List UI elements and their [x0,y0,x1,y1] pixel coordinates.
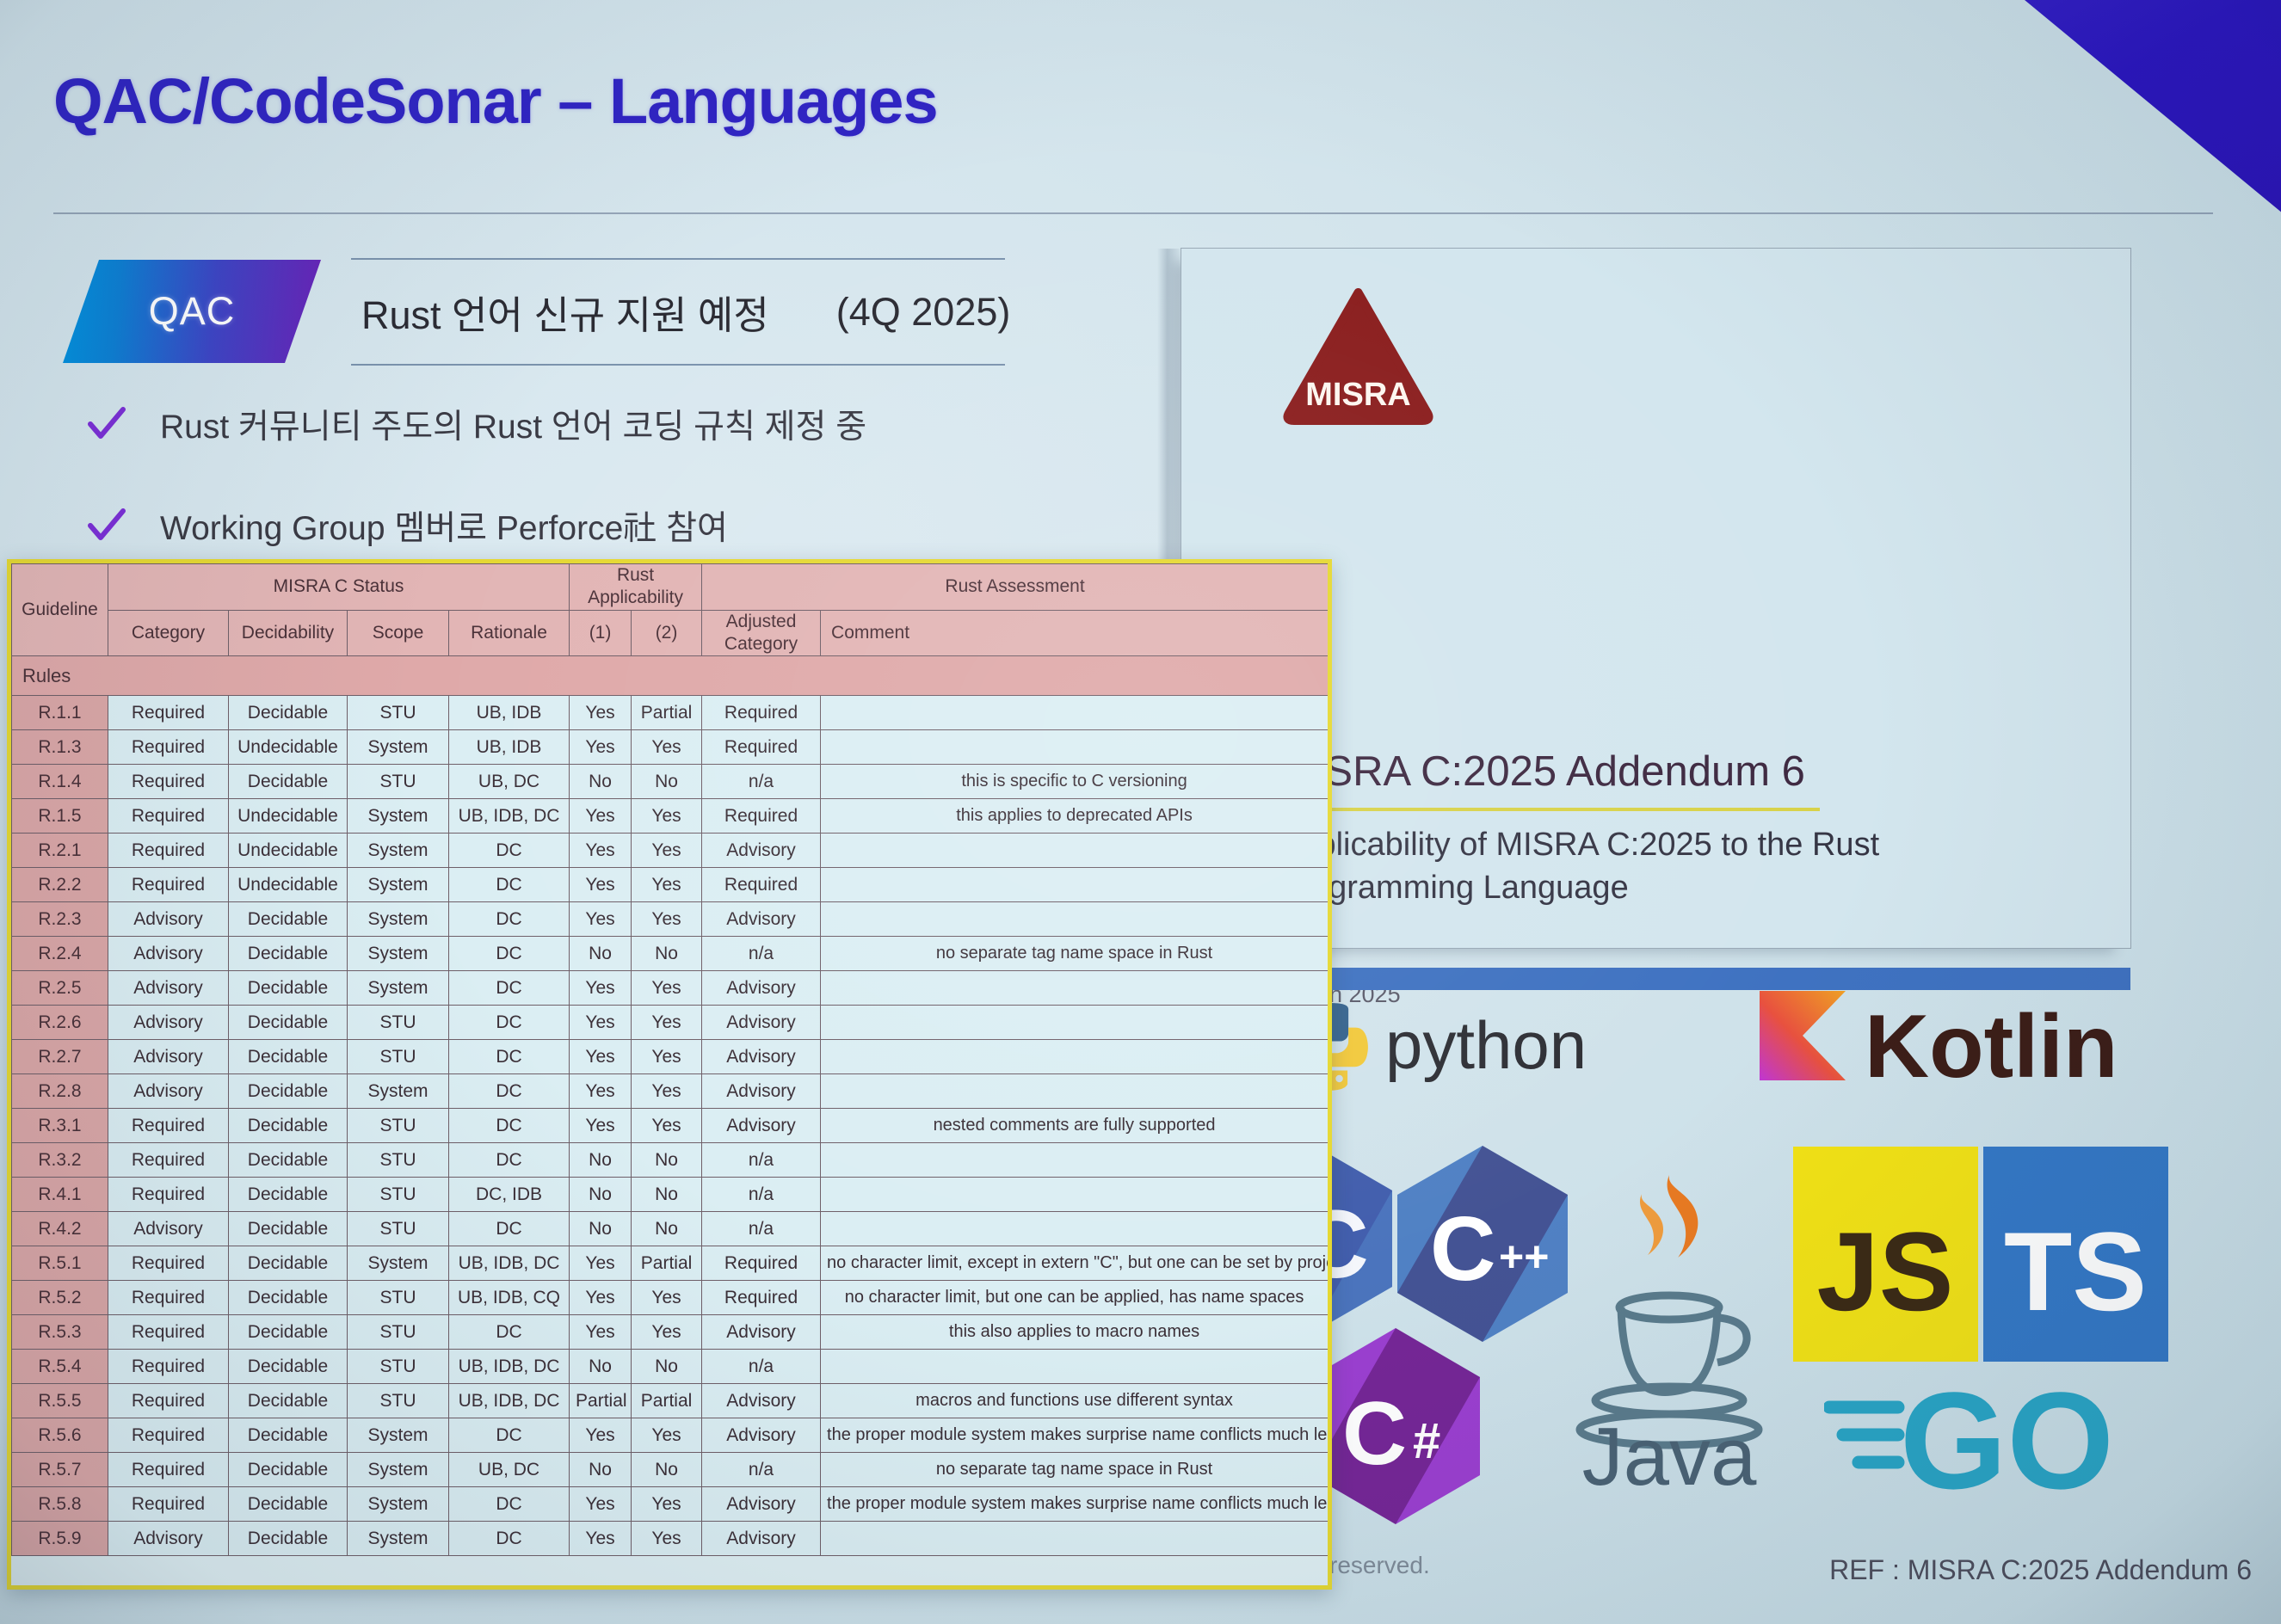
cell-rationale: DC [449,834,570,868]
cell-category: Required [108,1350,229,1384]
cell-adjusted-category: Advisory [702,1040,821,1074]
cell-decidability: Decidable [229,1281,348,1315]
go-logo: GO [1824,1359,2185,1510]
cell-scope: System [348,971,449,1006]
cell-app2: Yes [632,971,702,1006]
cell-adjusted-category: Required [702,1281,821,1315]
cell-rationale: DC [449,868,570,902]
cell-adjusted-category: Advisory [702,1384,821,1418]
cell-category: Required [108,1281,229,1315]
javascript-logo: JS [1793,1147,1978,1366]
cell-decidability: Decidable [229,1350,348,1384]
check-icon [86,403,127,445]
svg-text:python: python [1385,1007,1587,1083]
cell-app2: Yes [632,730,702,765]
cell-app2: Yes [632,1315,702,1350]
cell-scope: STU [348,1109,449,1143]
cell-decidability: Decidable [229,1006,348,1040]
cell-rationale: UB, IDB [449,696,570,730]
cell-decidability: Decidable [229,1074,348,1109]
check-icon [86,505,127,546]
table-section-label: Rules [12,656,1329,696]
table-section-row: Rules [12,656,1329,696]
cell-app2: Yes [632,1522,702,1556]
cell-rationale: UB, IDB, DC [449,1384,570,1418]
cell-decidability: Decidable [229,1522,348,1556]
cell-category: Required [108,1178,229,1212]
cell-comment [821,902,1329,937]
cell-category: Required [108,696,229,730]
cell-guideline: R.4.2 [12,1212,108,1246]
cell-guideline: R.1.5 [12,799,108,834]
cell-adjusted-category: Advisory [702,1074,821,1109]
cell-scope: System [348,1074,449,1109]
cell-comment [821,834,1329,868]
cell-rationale: UB, IDB [449,730,570,765]
cell-rationale: DC [449,1418,570,1453]
reference-note: REF : MISRA C:2025 Addendum 6 [1829,1554,2252,1586]
cell-rationale: DC [449,1074,570,1109]
cell-scope: STU [348,1350,449,1384]
cell-adjusted-category: Advisory [702,902,821,937]
table-row: R.2.2RequiredUndecidableSystemDCYesYesRe… [12,868,1329,902]
document-subtitle: Applicability of MISRA C:2025 to the Rus… [1278,823,1949,909]
cell-comment: the proper module system makes surprise … [821,1487,1329,1522]
cell-category: Required [108,765,229,799]
cell-adjusted-category: Advisory [702,1418,821,1453]
table-row: R.1.3RequiredUndecidableSystemUB, IDBYes… [12,730,1329,765]
cell-rationale: UB, DC [449,765,570,799]
cell-category: Required [108,799,229,834]
cell-rationale: DC [449,1006,570,1040]
cell-app1: Yes [570,902,632,937]
cell-category: Advisory [108,1006,229,1040]
language-logo-grid: python Kotlin C [1282,981,2246,1574]
cell-guideline: R.1.3 [12,730,108,765]
cell-adjusted-category: Required [702,730,821,765]
qac-headline-row: QAC Rust 언어 신규 지원 예정 (4Q 2025) [63,258,1009,366]
cell-rationale: UB, IDB, CQ [449,1281,570,1315]
cell-decidability: Decidable [229,1418,348,1453]
table-row: R.2.6AdvisoryDecidableSTUDCYesYesAdvisor… [12,1006,1329,1040]
cell-app2: No [632,1453,702,1487]
cell-rationale: UB, IDB, DC [449,799,570,834]
cell-scope: System [348,937,449,971]
col-group-rust-applicability: Rust Applicability [570,564,702,611]
qac-badge: QAC [63,260,321,363]
cell-scope: STU [348,1315,449,1350]
cell-decidability: Undecidable [229,730,348,765]
cell-comment: the proper module system makes surprise … [821,1418,1329,1453]
cell-adjusted-category: Advisory [702,971,821,1006]
cell-app1: No [570,937,632,971]
cell-app2: Partial [632,696,702,730]
cell-comment: no separate tag name space in Rust [821,1453,1329,1487]
table-row: R.5.6RequiredDecidableSystemDCYesYesAdvi… [12,1418,1329,1453]
table-row: R.3.1RequiredDecidableSTUDCYesYesAdvisor… [12,1109,1329,1143]
cell-guideline: R.3.1 [12,1109,108,1143]
cell-category: Required [108,1418,229,1453]
cell-guideline: R.5.9 [12,1522,108,1556]
col-header-guideline: Guideline [12,564,108,656]
cell-guideline: R.2.1 [12,834,108,868]
cell-category: Required [108,1143,229,1178]
cell-decidability: Decidable [229,1246,348,1281]
cell-guideline: R.5.4 [12,1350,108,1384]
svg-text:Kotlin: Kotlin [1865,997,2118,1097]
svg-text:++: ++ [1499,1233,1549,1281]
cell-scope: System [348,1522,449,1556]
cell-app2: Partial [632,1246,702,1281]
cell-comment [821,696,1329,730]
cell-scope: STU [348,765,449,799]
cell-category: Required [108,1453,229,1487]
cell-adjusted-category: n/a [702,765,821,799]
col-group-misra-c-status: MISRA C Status [108,564,570,611]
cell-decidability: Decidable [229,696,348,730]
cell-scope: STU [348,1040,449,1074]
cell-category: Required [108,1109,229,1143]
col-header-scope: Scope [348,610,449,656]
cell-decidability: Decidable [229,1109,348,1143]
table-row: R.5.1RequiredDecidableSystemUB, IDB, DCY… [12,1246,1329,1281]
cell-app1: Yes [570,1418,632,1453]
cell-guideline: R.4.1 [12,1178,108,1212]
cell-scope: STU [348,1281,449,1315]
cell-scope: STU [348,1006,449,1040]
cell-rationale: DC [449,1315,570,1350]
cell-guideline: R.2.5 [12,971,108,1006]
cell-app1: Yes [570,1074,632,1109]
cell-rationale: DC [449,902,570,937]
svg-text:GO: GO [1900,1363,2114,1505]
cell-scope: System [348,1453,449,1487]
cell-app1: Yes [570,799,632,834]
document-title-rule [1278,808,1820,811]
cell-comment [821,1143,1329,1178]
cell-adjusted-category: Required [702,1246,821,1281]
java-logo: Java [1559,1170,1783,1492]
cell-decidability: Decidable [229,1212,348,1246]
cell-scope: System [348,868,449,902]
corner-triangle-decoration [1921,0,2281,213]
cell-comment: this is specific to C versioning [821,765,1329,799]
cell-comment [821,1350,1329,1384]
svg-text:#: # [1413,1413,1440,1469]
cell-rationale: DC [449,1487,570,1522]
col-header-category: Category [108,610,229,656]
cell-comment [821,971,1329,1006]
cell-decidability: Decidable [229,971,348,1006]
cell-app1: Partial [570,1384,632,1418]
cell-guideline: R.5.6 [12,1418,108,1453]
cell-guideline: R.5.2 [12,1281,108,1315]
cell-scope: System [348,1246,449,1281]
table-row: R.2.3AdvisoryDecidableSystemDCYesYesAdvi… [12,902,1329,937]
table-row: R.2.5AdvisoryDecidableSystemDCYesYesAdvi… [12,971,1329,1006]
headline-text: Rust 언어 신규 지원 예정 [361,284,769,340]
cell-app2: Yes [632,902,702,937]
cell-app2: Yes [632,1040,702,1074]
bullet-label: Working Group 멤버로 Perforce社 참여 [160,501,728,550]
list-item: Working Group 멤버로 Perforce社 참여 [86,501,866,550]
headline-wrapper: Rust 언어 신규 지원 예정 (4Q 2025) [351,258,1005,366]
cell-rationale: DC, IDB [449,1178,570,1212]
cell-adjusted-category: Advisory [702,1109,821,1143]
cell-category: Required [108,868,229,902]
table-row: R.2.8AdvisoryDecidableSystemDCYesYesAdvi… [12,1074,1329,1109]
cell-guideline: R.1.4 [12,765,108,799]
cell-adjusted-category: Advisory [702,1487,821,1522]
cell-app2: No [632,1350,702,1384]
headline-quarter: (4Q 2025) [836,290,1011,335]
svg-text:TS: TS [2004,1209,2147,1334]
table-row: R.5.7RequiredDecidableSystemUB, DCNoNon/… [12,1453,1329,1487]
document-title: MISRA C:2025 Addendum 6 [1278,747,1805,796]
cell-rationale: UB, DC [449,1453,570,1487]
cell-rationale: DC [449,1109,570,1143]
cell-app2: No [632,1178,702,1212]
table-row: R.2.4AdvisoryDecidableSystemDCNoNon/ano … [12,937,1329,971]
qac-badge-label: QAC [149,289,236,334]
cell-rationale: UB, IDB, DC [449,1246,570,1281]
cell-app1: Yes [570,1006,632,1040]
cell-app1: Yes [570,1109,632,1143]
cell-category: Required [108,1384,229,1418]
table-row: R.5.4RequiredDecidableSTUUB, IDB, DCNoNo… [12,1350,1329,1384]
cell-app2: Yes [632,834,702,868]
cell-comment [821,1212,1329,1246]
cell-category: Advisory [108,1074,229,1109]
cell-app1: No [570,1178,632,1212]
table-row: R.4.2AdvisoryDecidableSTUDCNoNon/a [12,1212,1329,1246]
cell-comment: this applies to deprecated APIs [821,799,1329,834]
cell-comment: no character limit, except in extern "C"… [821,1246,1329,1281]
cell-category: Required [108,1487,229,1522]
cell-app2: No [632,1143,702,1178]
cell-app1: No [570,1350,632,1384]
cell-app2: Yes [632,1281,702,1315]
table-head: Guideline MISRA C Status Rust Applicabil… [12,564,1329,656]
table-row: R.5.2RequiredDecidableSTUUB, IDB, CQYesY… [12,1281,1329,1315]
cell-app1: Yes [570,971,632,1006]
bullet-label: Rust 커뮤니티 주도의 Rust 언어 코딩 규칙 제정 중 [160,400,866,448]
cell-app2: Yes [632,1074,702,1109]
table-row: R.5.8RequiredDecidableSystemDCYesYesAdvi… [12,1487,1329,1522]
typescript-logo: TS [1983,1147,2168,1366]
cell-decidability: Decidable [229,1453,348,1487]
cell-guideline: R.5.7 [12,1453,108,1487]
col-header-app2: (2) [632,610,702,656]
cell-decidability: Undecidable [229,799,348,834]
cell-app2: No [632,937,702,971]
cell-decidability: Decidable [229,902,348,937]
cell-category: Advisory [108,937,229,971]
cell-guideline: R.5.3 [12,1315,108,1350]
cell-scope: System [348,799,449,834]
svg-text:Java: Java [1582,1411,1757,1488]
table-row: R.1.1RequiredDecidableSTUUB, IDBYesParti… [12,696,1329,730]
cell-category: Required [108,1315,229,1350]
cell-decidability: Undecidable [229,834,348,868]
cell-guideline: R.1.1 [12,696,108,730]
cell-adjusted-category: Advisory [702,1006,821,1040]
table-body: RulesR.1.1RequiredDecidableSTUUB, IDBYes… [12,656,1329,1556]
table-row: R.1.5RequiredUndecidableSystemUB, IDB, D… [12,799,1329,834]
cell-app1: Yes [570,834,632,868]
svg-text:C: C [1430,1198,1496,1300]
cell-rationale: DC [449,1212,570,1246]
cell-guideline: R.2.8 [12,1074,108,1109]
cell-app2: Partial [632,1384,702,1418]
table-row: R.2.7AdvisoryDecidableSTUDCYesYesAdvisor… [12,1040,1329,1074]
cell-app1: Yes [570,1040,632,1074]
cell-decidability: Decidable [229,937,348,971]
cell-guideline: R.2.2 [12,868,108,902]
cell-scope: System [348,834,449,868]
cell-app1: Yes [570,1522,632,1556]
cell-adjusted-category: n/a [702,1453,821,1487]
cell-adjusted-category: n/a [702,1350,821,1384]
cell-decidability: Decidable [229,1143,348,1178]
cell-scope: STU [348,1212,449,1246]
cell-guideline: R.5.1 [12,1246,108,1281]
cell-category: Advisory [108,1040,229,1074]
cell-category: Advisory [108,902,229,937]
cell-app1: No [570,1212,632,1246]
title-divider [53,212,2213,214]
cell-guideline: R.2.4 [12,937,108,971]
cell-comment: this also applies to macro names [821,1315,1329,1350]
cell-decidability: Decidable [229,1040,348,1074]
cell-adjusted-category: Required [702,696,821,730]
cell-app1: Yes [570,868,632,902]
misra-triangle-icon: MISRA [1283,287,1433,425]
cell-adjusted-category: n/a [702,1178,821,1212]
cell-adjusted-category: Advisory [702,1315,821,1350]
cell-app2: No [632,765,702,799]
table-row: R.3.2RequiredDecidableSTUDCNoNon/a [12,1143,1329,1178]
cell-comment: macros and functions use different synta… [821,1384,1329,1418]
cell-adjusted-category: Required [702,868,821,902]
page-title: QAC/CodeSonar – Languages [53,65,938,138]
cell-guideline: R.2.7 [12,1040,108,1074]
cell-adjusted-category: Advisory [702,834,821,868]
cell-app2: Yes [632,1109,702,1143]
cell-comment [821,730,1329,765]
table-row: R.5.5RequiredDecidableSTUUB, IDB, DCPart… [12,1384,1329,1418]
cell-decidability: Decidable [229,1315,348,1350]
cell-guideline: R.5.5 [12,1384,108,1418]
table-row: R.5.3RequiredDecidableSTUDCYesYesAdvisor… [12,1315,1329,1350]
cell-comment [821,1006,1329,1040]
cell-app1: Yes [570,1315,632,1350]
cell-category: Advisory [108,1212,229,1246]
cell-rationale: DC [449,971,570,1006]
cell-app2: Yes [632,799,702,834]
cell-decidability: Decidable [229,1487,348,1522]
cell-scope: System [348,902,449,937]
svg-text:C: C [1342,1384,1407,1484]
cell-app2: No [632,1212,702,1246]
cell-guideline: R.2.3 [12,902,108,937]
cell-app1: Yes [570,1281,632,1315]
cell-rationale: UB, IDB, DC [449,1350,570,1384]
cell-guideline: R.2.6 [12,1006,108,1040]
table-row: R.1.4RequiredDecidableSTUUB, DCNoNon/ath… [12,765,1329,799]
cell-scope: System [348,1487,449,1522]
kotlin-logo: Kotlin [1760,991,2173,1103]
cell-app2: Yes [632,868,702,902]
cell-app2: Yes [632,1006,702,1040]
cell-adjusted-category: Required [702,799,821,834]
cell-app1: No [570,1143,632,1178]
cell-app1: Yes [570,1487,632,1522]
col-header-decidability: Decidability [229,610,348,656]
table-row: R.5.9AdvisoryDecidableSystemDCYesYesAdvi… [12,1522,1329,1556]
cell-app2: Yes [632,1487,702,1522]
col-header-adjusted-category: Adjusted Category [702,610,821,656]
cell-comment [821,1522,1329,1556]
cell-adjusted-category: n/a [702,1212,821,1246]
cell-adjusted-category: Advisory [702,1522,821,1556]
col-header-comment: Comment [821,610,1329,656]
cell-adjusted-category: n/a [702,937,821,971]
cell-comment [821,1040,1329,1074]
list-item: Rust 커뮤니티 주도의 Rust 언어 코딩 규칙 제정 중 [86,400,866,448]
cell-category: Required [108,834,229,868]
col-group-rust-assessment: Rust Assessment [702,564,1329,611]
table-row: R.2.1RequiredUndecidableSystemDCYesYesAd… [12,834,1329,868]
cell-comment [821,1074,1329,1109]
cell-scope: STU [348,1143,449,1178]
cell-category: Required [108,1246,229,1281]
cell-rationale: DC [449,1522,570,1556]
cell-comment [821,868,1329,902]
misra-rust-table: Guideline MISRA C Status Rust Applicabil… [11,563,1329,1556]
table-row: R.4.1RequiredDecidableSTUDC, IDBNoNon/a [12,1178,1329,1212]
cell-comment: no character limit, but one can be appli… [821,1281,1329,1315]
cell-decidability: Decidable [229,1384,348,1418]
cell-rationale: DC [449,1040,570,1074]
cell-app1: No [570,765,632,799]
cell-comment [821,1178,1329,1212]
cell-adjusted-category: n/a [702,1143,821,1178]
cell-scope: System [348,1418,449,1453]
svg-text:JS: JS [1816,1209,1953,1334]
cell-app1: Yes [570,730,632,765]
cell-scope: System [348,730,449,765]
cell-comment: no separate tag name space in Rust [821,937,1329,971]
slide-canvas: QAC/CodeSonar – Languages QAC Rust 언어 신규… [0,0,2281,1624]
cell-app1: Yes [570,696,632,730]
cell-rationale: DC [449,1143,570,1178]
cell-comment: nested comments are fully supported [821,1109,1329,1143]
cell-category: Advisory [108,971,229,1006]
cell-scope: STU [348,696,449,730]
cell-decidability: Decidable [229,765,348,799]
cell-category: Required [108,730,229,765]
cell-guideline: R.3.2 [12,1143,108,1178]
col-header-app1: (1) [570,610,632,656]
cell-decidability: Undecidable [229,868,348,902]
misra-rust-table-overlay: Guideline MISRA C Status Rust Applicabil… [7,559,1332,1590]
cell-rationale: DC [449,937,570,971]
cell-app1: No [570,1453,632,1487]
cell-scope: STU [348,1178,449,1212]
cell-decidability: Decidable [229,1178,348,1212]
cell-guideline: R.5.8 [12,1487,108,1522]
